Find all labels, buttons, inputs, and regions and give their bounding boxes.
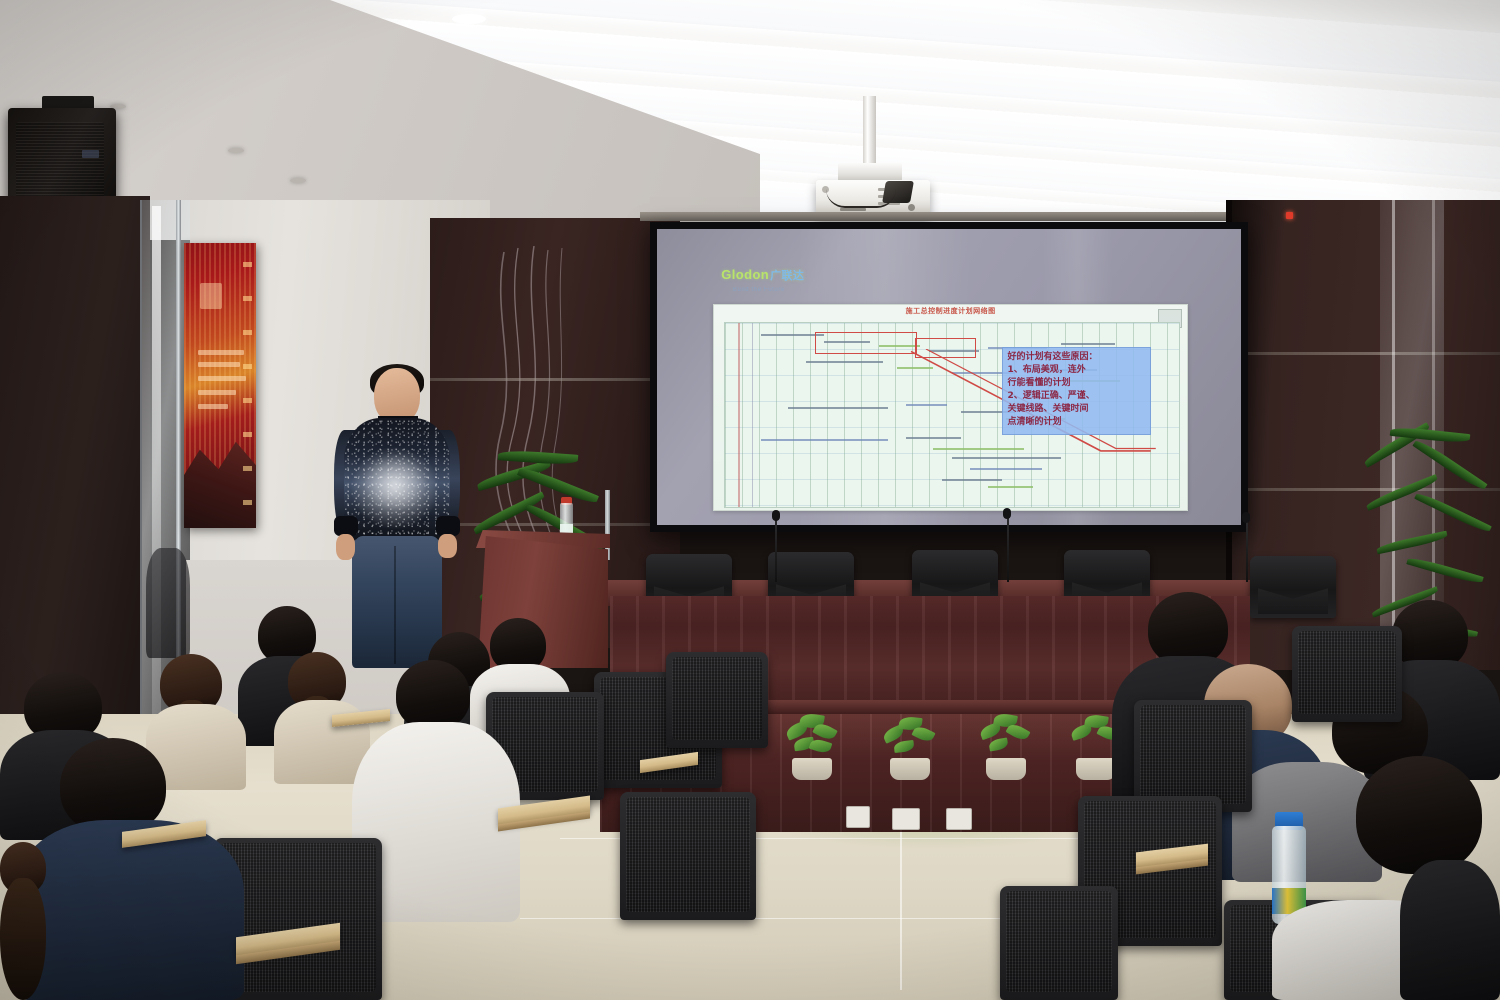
presenter-jeans-seam (394, 546, 396, 664)
wall-outlet-1[interactable] (846, 806, 870, 828)
slide-callout-note: 好的计划有这些原因： 1、布局美观，连外 行能看懂的计划 2、逻辑正确、严谨、 … (1002, 347, 1152, 435)
attendee-hair-f2 (0, 878, 46, 1000)
attendee-head-r1 (1148, 592, 1228, 666)
indicator-led-icon (1286, 212, 1293, 219)
presenter-cuff-right (436, 516, 460, 536)
banner-text-line-1 (198, 350, 244, 355)
plant-pot-1 (792, 758, 832, 780)
attendee-body-r6 (1400, 860, 1500, 1000)
attendee-head-r5 (1356, 756, 1482, 874)
logo-text-cn: 广联达 (770, 270, 804, 282)
speaker-logo (82, 150, 99, 158)
attendee-head-m1 (396, 660, 470, 730)
left-dark-wall (0, 196, 150, 756)
downlight-icon-5 (452, 14, 486, 24)
logo-text-en: Glodon (721, 267, 769, 282)
slide-document: 施工总控制进度计划网络图 (713, 304, 1188, 510)
banner-headline-glyph (200, 283, 222, 309)
wall-outlet-2[interactable] (892, 808, 920, 830)
note-line-3: 2、逻辑正确、严谨、 (1008, 391, 1146, 402)
right-wall-metal-strip-1 (1234, 352, 1500, 355)
glass-sheen (152, 206, 161, 754)
note-line-0: 好的计划有这些原因： (1008, 352, 1146, 363)
microphone-icon-2 (1003, 508, 1011, 519)
gantt-left-rail-2 (752, 323, 753, 507)
projector-pole (863, 96, 876, 168)
plant-pot-2 (890, 758, 930, 780)
glodon-logo: Glodon广联达 (721, 267, 804, 283)
gantt-left-rail (738, 323, 740, 507)
attendee-behind-glass (146, 548, 190, 658)
presenter-hand-left (336, 534, 355, 560)
exec-chair-5[interactable] (1250, 556, 1336, 618)
banner-text-line-2 (198, 362, 240, 367)
conference-room-scene: Glodon广联达 Build the Future 施工总控制进度计划网络图 (0, 0, 1500, 1000)
screen-surface: Glodon广联达 Build the Future 施工总控制进度计划网络图 (657, 229, 1241, 525)
wall-outlet-3[interactable] (946, 808, 972, 830)
note-line-5: 点清晰的计划 (1008, 417, 1146, 428)
note-line-4: 关键线路、关键时间 (1008, 404, 1146, 415)
audience-chair-m3[interactable] (620, 792, 756, 920)
critical-path-box-1 (815, 332, 917, 354)
banner-text-line-3 (198, 376, 246, 381)
downlight-icon-3 (290, 178, 306, 183)
presenter-cuff-left (334, 516, 358, 536)
plant-pot-3 (986, 758, 1026, 780)
audience-chair-m4[interactable] (666, 652, 768, 748)
note-line-1: 1、布局美观，连外 (1008, 365, 1146, 376)
microphone-stem-3 (1246, 522, 1248, 582)
microphone-icon-1 (772, 510, 780, 521)
banner-text-line-5 (198, 404, 228, 409)
projection-screen: Glodon广联达 Build the Future 施工总控制进度计划网络图 (650, 222, 1248, 532)
screen-header-rail (640, 212, 1240, 221)
wall-metal-strip-1 (430, 378, 680, 381)
audience-chair-r5[interactable] (1000, 886, 1118, 1000)
logo-tagline: Build the Future (733, 287, 785, 293)
attendee-body-f1 (14, 820, 244, 1000)
microphone-stem-1 (775, 520, 777, 582)
presenter-hand-right (438, 534, 457, 558)
slide-title: 施工总控制进度计划网络图 (714, 305, 1187, 316)
projector-cable (826, 189, 896, 208)
presenter-jeans (352, 536, 442, 668)
projector-mount-plate (838, 163, 902, 181)
presenter-sweater-pattern (344, 418, 450, 543)
audience-chair-r4[interactable] (1292, 626, 1402, 722)
microphone-stem-2 (1007, 518, 1009, 582)
plant-pot-4 (1076, 758, 1116, 780)
microphone-icon-3 (1242, 512, 1250, 523)
banner-text-line-4 (198, 390, 236, 395)
presenter (330, 368, 460, 668)
banner-dot-column (243, 262, 252, 512)
note-line-2: 行能看懂的计划 (1008, 378, 1146, 389)
gantt-network-diagram: 好的计划有这些原因： 1、布局美观，连外 行能看懂的计划 2、逻辑正确、严谨、 … (724, 322, 1180, 508)
downlight-icon-2 (228, 148, 244, 153)
